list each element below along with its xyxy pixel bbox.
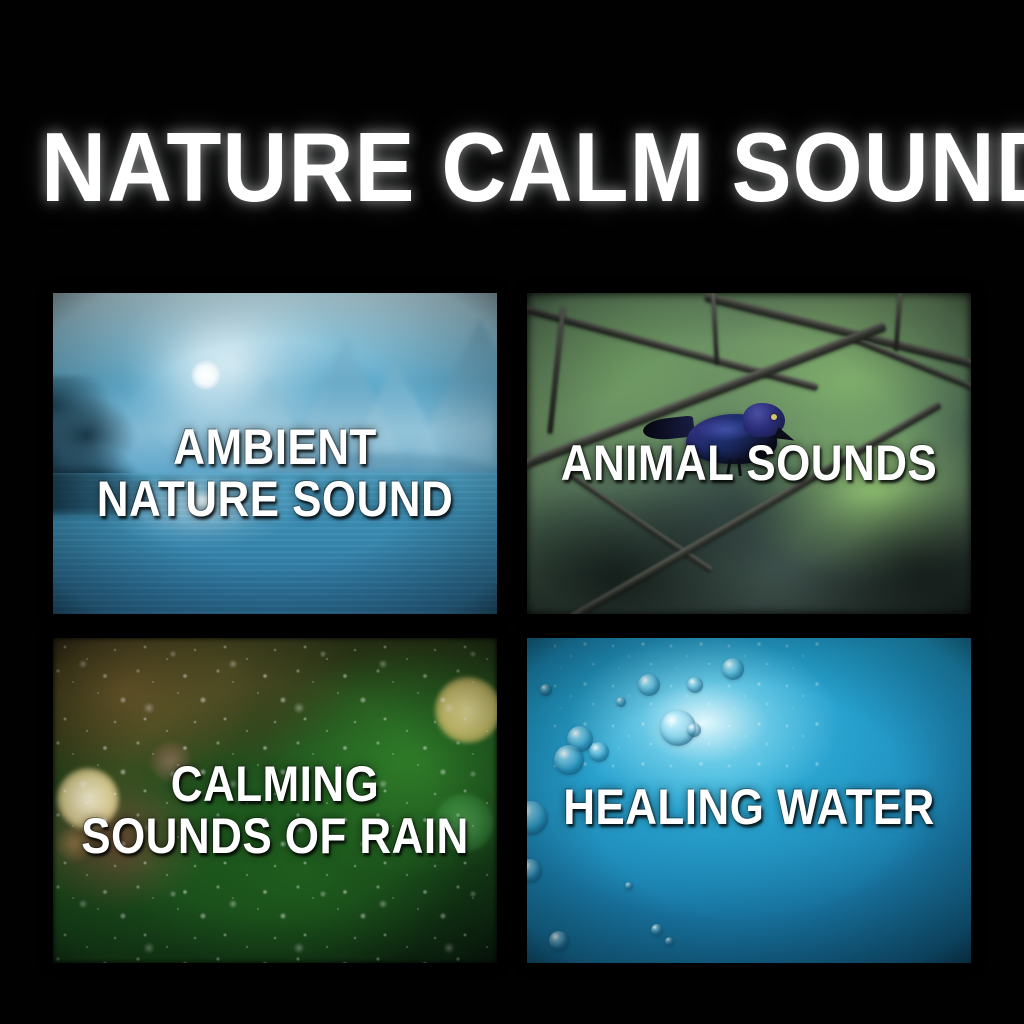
category-card-ambient-nature-sound[interactable]: AMBIENT NATURE SOUND [53, 293, 497, 614]
bubble-icon [687, 677, 703, 693]
category-card-calming-sounds-of-rain[interactable]: CALMING SOUNDS OF RAIN [53, 638, 497, 963]
healing-water-artwork [527, 638, 971, 963]
category-card-animal-sounds[interactable]: ANIMAL SOUNDS [527, 293, 971, 614]
sun-icon [191, 360, 221, 390]
bubble-icon [687, 723, 701, 737]
poster-canvas: NATURE CALM SOUNDS AMBIENT [0, 0, 1024, 1024]
sun-reflection [191, 492, 217, 510]
page-title: NATURE CALM SOUNDS [41, 118, 983, 216]
raindrops-layer [53, 638, 497, 963]
ambient-nature-sound-artwork [53, 293, 497, 614]
bubble-icon [549, 931, 569, 951]
bubble-icon [616, 697, 626, 707]
bubble-icon [625, 882, 633, 890]
bubble-icon [540, 684, 552, 696]
bird-beak [774, 427, 797, 447]
bubble-icon [722, 658, 744, 680]
animal-sounds-artwork [527, 293, 971, 614]
bubble-icon [554, 745, 584, 775]
bubble-icon [638, 674, 660, 696]
river-bank [53, 470, 151, 515]
category-grid: AMBIENT NATURE SOUND [53, 293, 971, 963]
bubble-icon [665, 937, 674, 946]
calming-sounds-of-rain-artwork [53, 638, 497, 963]
category-card-healing-water[interactable]: HEALING WATER [527, 638, 971, 963]
